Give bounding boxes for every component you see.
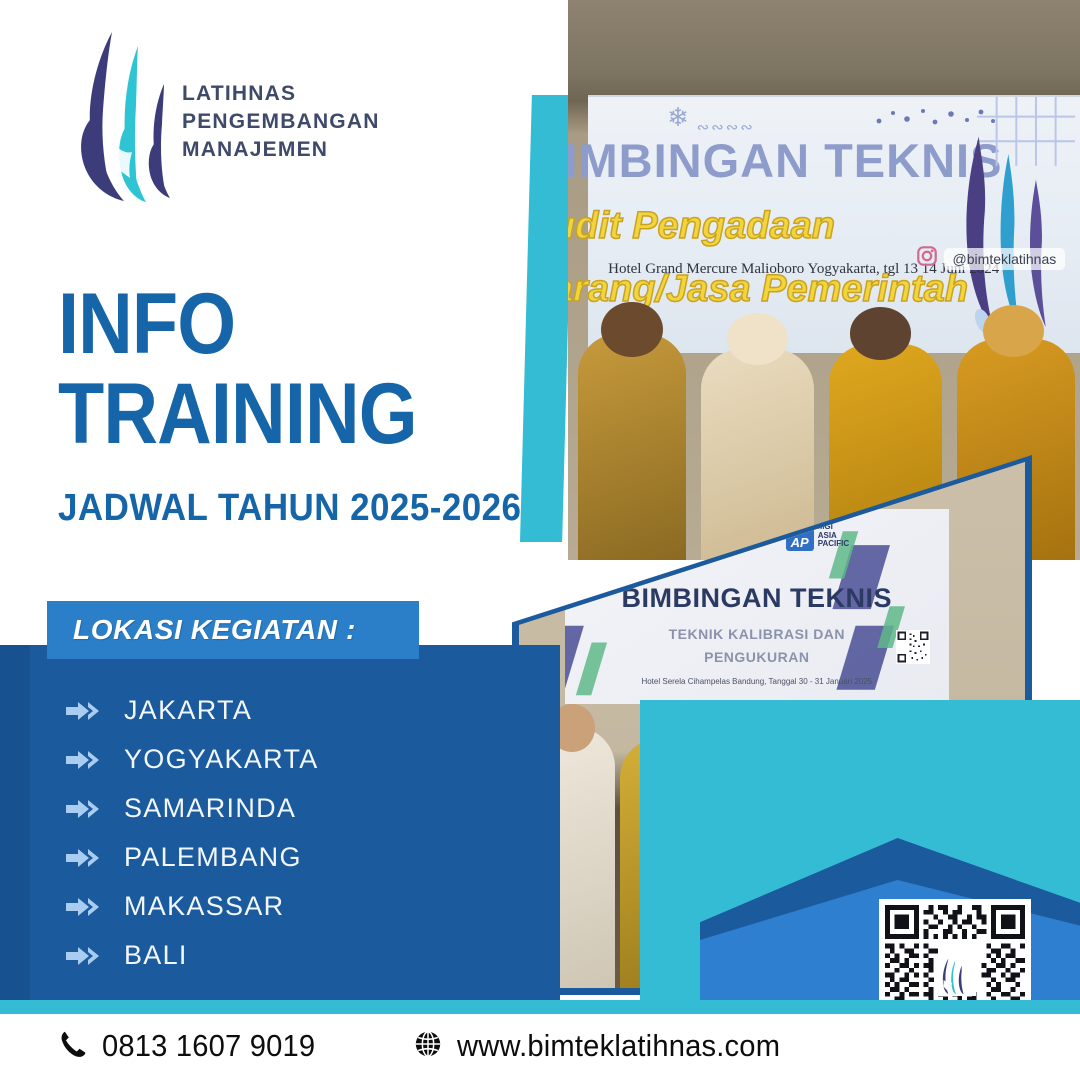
banner-subtitle-1: TEKNIK KALIBRASI DAN	[565, 626, 950, 642]
list-item[interactable]: JAKARTA	[62, 686, 482, 735]
arrow-right-icon	[62, 894, 108, 920]
list-item-label: MAKASSAR	[124, 891, 284, 922]
arrow-right-icon	[62, 796, 108, 822]
banner-qr-code-icon	[896, 630, 930, 664]
brand-name-line-2: PENGEMBANGAN	[182, 108, 380, 136]
list-item-label: YOGYAKARTA	[124, 744, 319, 775]
locations-badge-label: LOKASI KEGIATAN :	[73, 614, 356, 646]
footer-accent-band	[0, 1000, 1080, 1014]
list-item-label: PALEMBANG	[124, 842, 302, 873]
list-item[interactable]: YOGYAKARTA	[62, 735, 482, 784]
contact-website[interactable]: www.bimteklatihnas.com	[413, 1028, 801, 1064]
title-subtitle: JADWAL TAHUN 2025-2026	[58, 487, 521, 530]
latihnas-feather-logo-icon	[68, 28, 188, 203]
instagram-icon	[916, 245, 938, 272]
title-line-2: TRAINING	[58, 372, 480, 456]
arrow-right-icon	[62, 698, 108, 724]
brand-name: LATIHNAS PENGEMBANGAN MANAJEMEN	[182, 80, 380, 164]
locations-list: JAKARTA YOGYAKARTA SAMARINDA	[62, 686, 482, 980]
locations-panel-edge	[0, 645, 30, 1001]
banner-instagram: @bimteklatihnas	[916, 245, 1066, 272]
phone-number: 0813 1607 9019	[102, 1028, 315, 1064]
title-line-1: INFO	[58, 282, 480, 366]
brand-name-line-1: LATIHNAS	[182, 80, 380, 108]
banner-title: BIMBINGAN TEKNIS	[565, 583, 950, 614]
list-item-label: SAMARINDA	[124, 793, 296, 824]
list-item-label: BALI	[124, 940, 188, 971]
arrow-right-icon	[62, 943, 108, 969]
poster-canvas: LATIHNAS PENGEMBANGAN MANAJEMEN INFO TRA…	[0, 0, 1080, 1080]
list-item[interactable]: BALI	[62, 931, 482, 980]
list-item[interactable]: MAKASSAR	[62, 882, 482, 931]
phone-icon	[58, 1029, 88, 1064]
globe-icon	[413, 1029, 443, 1064]
website-url: www.bimteklatihnas.com	[457, 1028, 780, 1064]
partner-logo-text: MGIASIAPACIFIC	[818, 523, 849, 548]
banner-subtitle-2: PENGUKURAN	[565, 649, 950, 665]
brand-name-line-3: MANAJEMEN	[182, 136, 380, 164]
qr-center-logo-icon	[934, 954, 976, 996]
contact-phone[interactable]: 0813 1607 9019	[58, 1028, 329, 1064]
locations-badge: LOKASI KEGIATAN :	[47, 601, 419, 659]
list-item[interactable]: SAMARINDA	[62, 784, 482, 833]
arrow-right-icon	[62, 747, 108, 773]
list-item[interactable]: PALEMBANG	[62, 833, 482, 882]
arrow-right-icon	[62, 845, 108, 871]
brand-logo: LATIHNAS PENGEMBANGAN MANAJEMEN	[60, 28, 480, 203]
instagram-handle: @bimteklatihnas	[944, 248, 1066, 270]
list-item-label: JAKARTA	[124, 695, 252, 726]
banner-venue-text: Hotel Serela Cihampelas Bandung, Tanggal…	[565, 677, 950, 686]
page-title: INFO TRAINING	[58, 282, 538, 457]
